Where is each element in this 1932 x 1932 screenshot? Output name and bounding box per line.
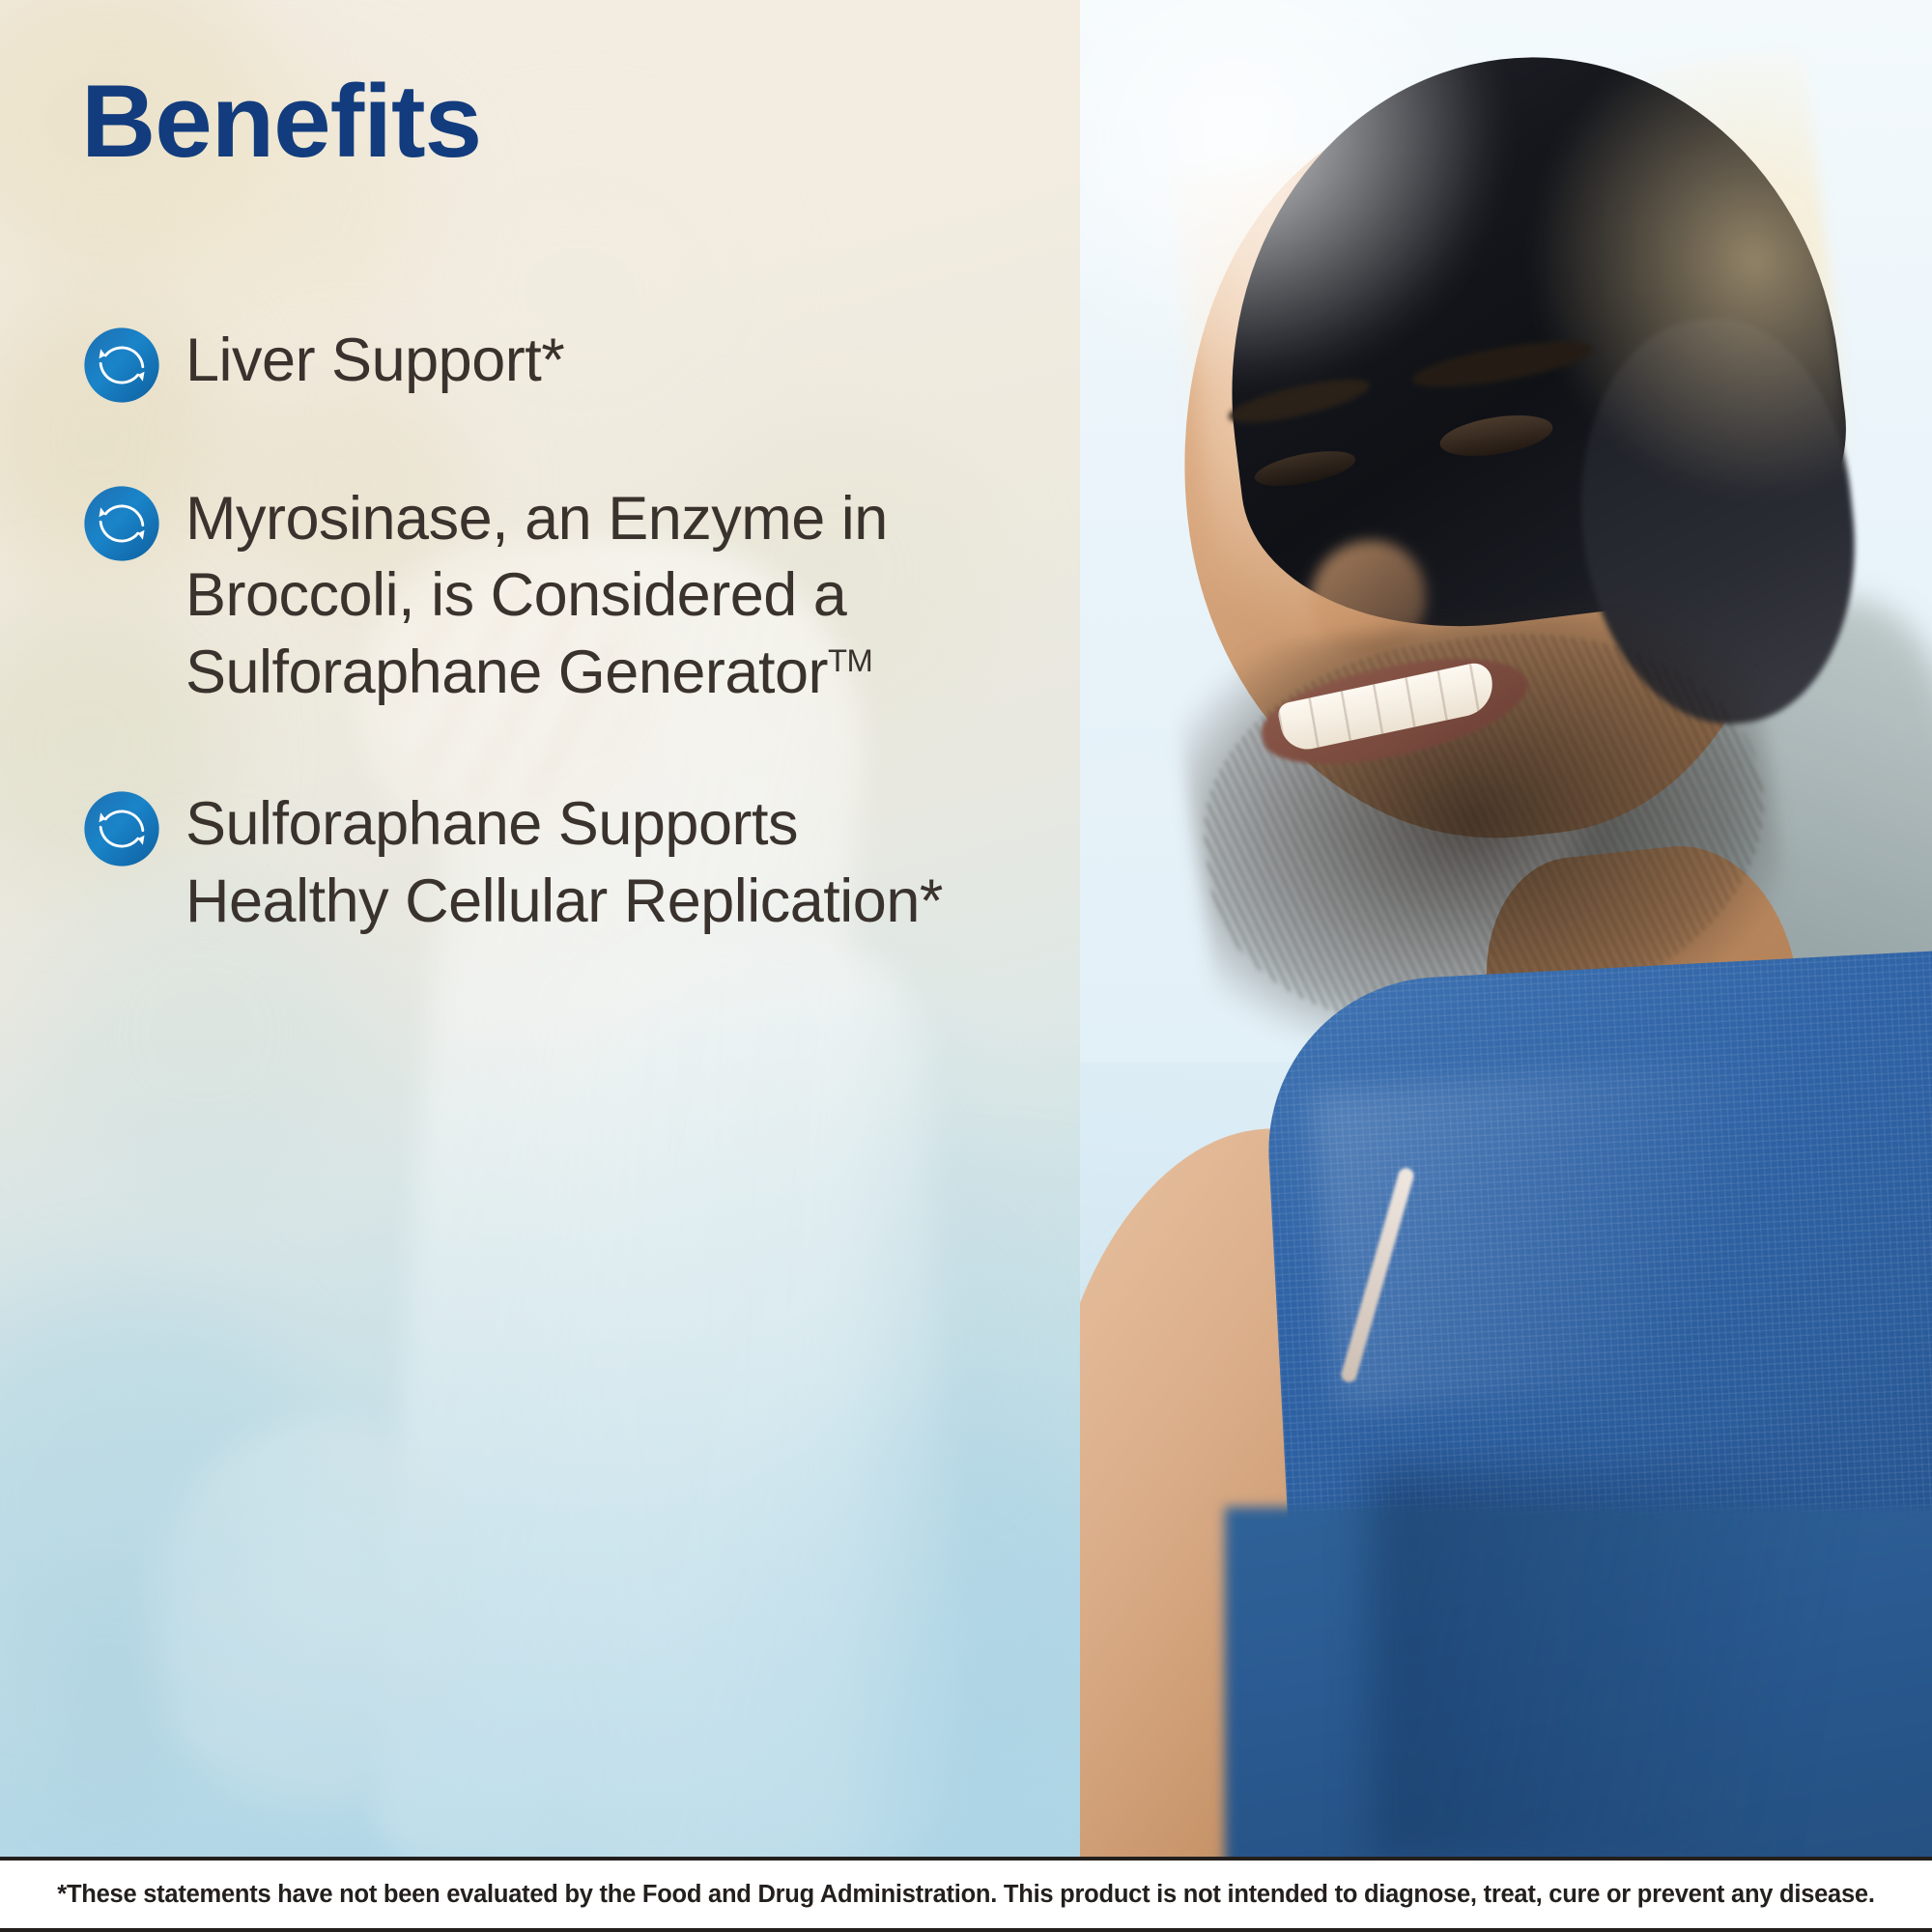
benefits-list: Liver Support* — [81, 319, 1047, 1011]
page-title: Benefits — [81, 70, 481, 173]
fda-disclaimer: *These statements have not been evaluate… — [0, 1857, 1932, 1932]
trademark-symbol: TM — [828, 642, 872, 678]
shirt-shadow — [1370, 1468, 1932, 1864]
benefits-infographic: Benefits — [0, 0, 1932, 1932]
hair-rimlight — [1467, 49, 1861, 570]
refresh-cycle-icon — [81, 325, 162, 406]
benefit-label: Liver Support* — [185, 319, 564, 399]
benefit-item: Liver Support* — [81, 319, 1047, 406]
benefits-content: Benefits — [0, 0, 1080, 1864]
benefit-item: Sulforaphane Supports Healthy Cellular R… — [81, 782, 1047, 940]
benefit-item: Myrosinase, an Enzyme in Broccoli, is Co… — [81, 477, 1047, 711]
benefit-label: Myrosinase, an Enzyme in Broccoli, is Co… — [185, 477, 949, 711]
disclaimer-text: *These statements have not been evaluate… — [57, 1881, 1874, 1909]
refresh-cycle-icon — [81, 788, 162, 869]
shirt-highlight — [1309, 1033, 1932, 1410]
benefit-label: Sulforaphane Supports Healthy Cellular R… — [185, 782, 949, 940]
refresh-cycle-icon — [81, 483, 162, 564]
sun-flare — [1080, 0, 1505, 386]
hero-photo — [1080, 0, 1932, 1864]
